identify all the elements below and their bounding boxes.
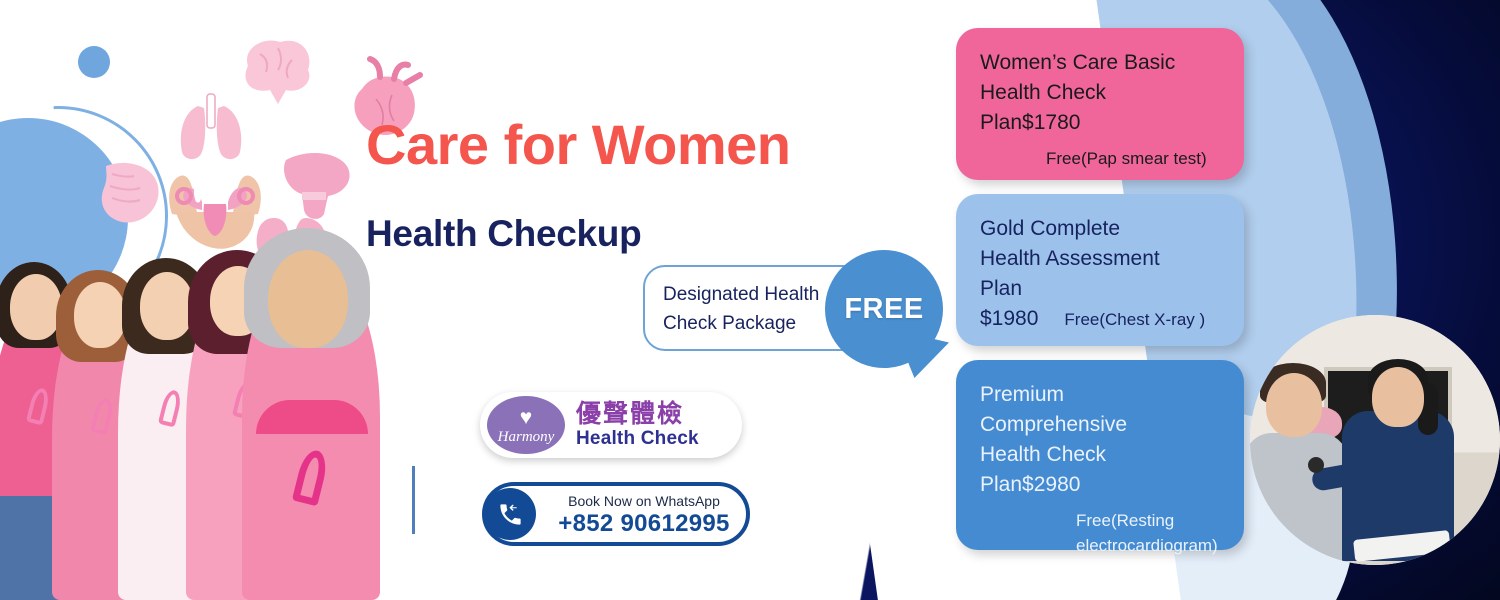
decorative-dot [78, 46, 110, 78]
plan-card-gold[interactable]: Gold Complete Health Assessment Plan $19… [956, 194, 1244, 346]
plan-free-item-premium: Free(Resting electrocardiogram) [1076, 508, 1226, 558]
whatsapp-text-block: Book Now on WhatsApp +852 90612995 [546, 492, 742, 537]
plan-title-gold: Gold Complete Health Assessment Plan [980, 214, 1226, 304]
plan-free-item-gold: Free(Chest X-ray ) [1064, 307, 1205, 332]
plan-price-gold: $1980 [980, 304, 1038, 334]
plan-title-basic: Women’s Care Basic Health Check Plan$178… [980, 48, 1226, 138]
brand-name-block: 優聲體檢 Health Check [576, 401, 699, 450]
brand-name-english: Health Check [576, 428, 699, 450]
vertical-divider [412, 466, 415, 534]
plan-card-basic[interactable]: Women’s Care Basic Health Check Plan$178… [956, 28, 1244, 180]
plan-free-item-basic: Free(Pap smear test) [1046, 146, 1226, 171]
harmony-wordmark: Harmony [487, 429, 565, 446]
phone-callback-icon [484, 488, 536, 540]
free-badge: FREE [825, 250, 943, 368]
whatsapp-phone-number: +852 90612995 [546, 510, 742, 537]
heart-icon: ♥ [520, 406, 532, 430]
doctor-patient-photo [1250, 315, 1500, 565]
free-badge-label: FREE [844, 293, 923, 326]
plan-card-premium[interactable]: Premium Comprehensive Health Check Plan$… [956, 360, 1244, 550]
brand-name-chinese: 優聲體檢 [576, 401, 699, 428]
whatsapp-cta-label: Book Now on WhatsApp [546, 492, 742, 510]
whatsapp-booking-button[interactable]: Book Now on WhatsApp +852 90612995 [482, 482, 750, 546]
brand-logo: ♥ Harmony 優聲體檢 Health Check [480, 392, 742, 458]
plan-gold-price-row: $1980 Free(Chest X-ray ) [980, 304, 1226, 334]
plan-title-premium: Premium Comprehensive Health Check Plan$… [980, 380, 1226, 500]
brain-icon [230, 34, 320, 106]
page-title: Care for Women [366, 112, 790, 177]
harmony-logo-mark: ♥ Harmony [487, 396, 565, 454]
women-group-photo [0, 240, 390, 600]
promo-banner: Care for Women Health Checkup Designated… [0, 0, 1500, 600]
page-subtitle: Health Checkup [366, 213, 641, 255]
